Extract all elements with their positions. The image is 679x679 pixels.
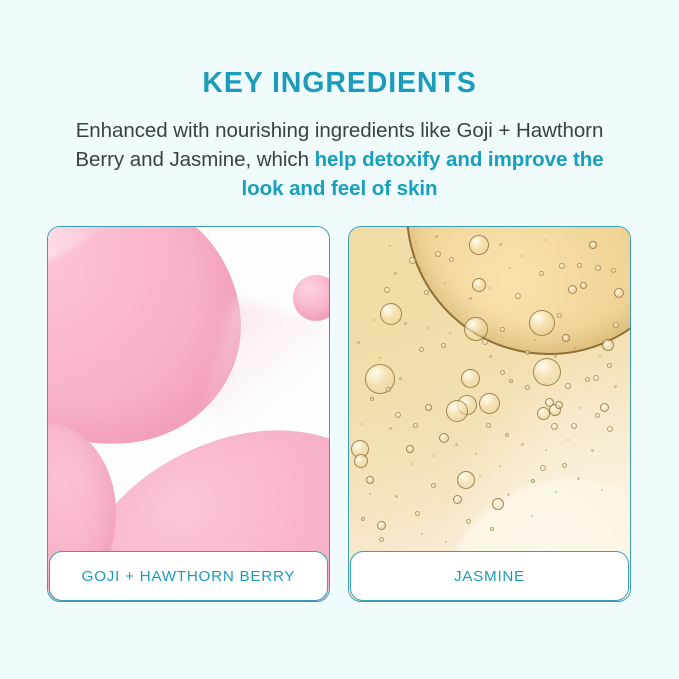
- oil-bubble: [435, 251, 441, 257]
- oil-speck: [545, 383, 547, 385]
- oil-bubble: [446, 400, 468, 422]
- oil-bubble: [354, 454, 368, 468]
- oil-bubble: [600, 403, 609, 412]
- oil-bubble: [380, 303, 402, 325]
- pink-fluid-artwork: [48, 227, 329, 601]
- golden-oil-artwork: [349, 227, 630, 601]
- oil-bubble: [472, 278, 486, 292]
- oil-speck: [404, 322, 407, 325]
- oil-bubble: [366, 476, 374, 484]
- oil-speck: [509, 347, 511, 349]
- oil-bubble: [531, 479, 535, 483]
- oil-speck: [475, 453, 477, 455]
- oil-bubble: [595, 265, 601, 271]
- goji-caption-label: GOJI + HAWTHORN BERRY: [82, 568, 296, 585]
- oil-bubble: [457, 471, 475, 489]
- oil-speck: [415, 241, 417, 243]
- oil-bubble: [595, 413, 600, 418]
- oil-speck: [591, 449, 594, 452]
- oil-speck: [449, 332, 451, 334]
- oil-bubble: [505, 433, 509, 437]
- oil-speck: [357, 341, 360, 344]
- oil-bubble: [562, 334, 570, 342]
- oil-speck: [489, 355, 492, 358]
- oil-bubble: [577, 263, 582, 268]
- oil-bubble: [453, 495, 462, 504]
- ingredient-card-grid: GOJI + HAWTHORN BERRY JASMINE: [47, 226, 632, 602]
- ingredient-card-goji[interactable]: GOJI + HAWTHORN BERRY: [47, 226, 330, 602]
- oil-speck: [554, 355, 557, 358]
- oil-bubble: [361, 517, 365, 521]
- oil-speck: [373, 319, 375, 321]
- oil-bubble: [568, 285, 577, 294]
- oil-bubble: [614, 288, 624, 298]
- oil-bubble: [425, 404, 432, 411]
- oil-bubble: [395, 412, 401, 418]
- oil-bubble: [559, 263, 565, 269]
- oil-bubble: [602, 339, 614, 351]
- page-title: KEY INGREDIENTS: [0, 66, 679, 100]
- oil-bubble: [461, 369, 480, 388]
- oil-bubble: [607, 363, 612, 368]
- oil-bubble: [562, 463, 567, 468]
- oil-bubble: [466, 519, 471, 524]
- subtitle-text: Enhanced with nourishing ingredients lik…: [70, 116, 609, 203]
- oil-speck: [545, 239, 547, 241]
- oil-bubble: [441, 343, 446, 348]
- oil-bubble: [557, 313, 562, 318]
- oil-bubble: [384, 287, 390, 293]
- oil-bubble: [525, 350, 530, 355]
- oil-speck: [479, 475, 481, 477]
- oil-bubble: [492, 498, 504, 510]
- oil-speck: [614, 385, 617, 388]
- oil-speck: [399, 377, 402, 380]
- oil-bubble: [525, 385, 530, 390]
- oil-speck: [574, 347, 576, 349]
- oil-bubble: [439, 433, 449, 443]
- oil-bubble: [386, 387, 391, 392]
- oil-speck: [567, 439, 569, 441]
- oil-speck: [499, 243, 502, 246]
- oil-speck: [601, 489, 603, 491]
- oil-bubble: [464, 317, 488, 341]
- jasmine-caption-label: JASMINE: [454, 568, 525, 585]
- oil-bubble: [406, 445, 414, 453]
- oil-speck: [455, 443, 458, 446]
- oil-speck: [577, 477, 580, 480]
- oil-bubble: [555, 401, 563, 409]
- oil-speck: [469, 297, 472, 300]
- oil-speck: [445, 541, 447, 543]
- oil-bubble: [413, 423, 418, 428]
- oil-bubble: [565, 383, 571, 389]
- oil-speck: [444, 282, 446, 284]
- oil-speck: [421, 533, 423, 535]
- oil-bubble: [551, 423, 558, 430]
- oil-bubble: [486, 423, 491, 428]
- oil-speck: [361, 423, 363, 425]
- oil-speck: [545, 449, 547, 451]
- oil-bubble: [379, 537, 384, 542]
- oil-speck: [521, 255, 523, 257]
- oil-bubble: [490, 527, 494, 531]
- oil-bubble: [580, 282, 587, 289]
- oil-bubble: [529, 310, 555, 336]
- oil-bubble: [431, 483, 436, 488]
- ingredient-card-jasmine[interactable]: JASMINE: [348, 226, 631, 602]
- oil-bubble: [571, 423, 577, 429]
- oil-bubble: [377, 521, 386, 530]
- oil-bubble: [607, 426, 613, 432]
- oil-bubble: [545, 398, 554, 407]
- oil-bubble: [611, 268, 616, 273]
- oil-speck: [389, 245, 391, 247]
- oil-speck: [599, 355, 601, 357]
- oil-bubble: [409, 257, 416, 264]
- oil-speck: [489, 287, 491, 289]
- oil-bubble: [509, 379, 513, 383]
- oil-bubble: [415, 511, 420, 516]
- oil-speck: [389, 427, 392, 430]
- oil-speck: [531, 515, 533, 517]
- oil-bubble: [424, 290, 429, 295]
- oil-bubble: [419, 347, 424, 352]
- oil-bubble: [449, 257, 454, 262]
- oil-bubble: [482, 339, 488, 345]
- oil-bubble: [540, 465, 546, 471]
- oil-speck: [419, 267, 421, 269]
- oil-bubble: [589, 241, 597, 249]
- oil-bubble: [500, 327, 505, 332]
- oil-speck: [411, 463, 413, 465]
- oil-speck: [379, 357, 381, 359]
- oil-speck: [433, 455, 435, 457]
- ingredients-panel: KEY INGREDIENTS Enhanced with nourishing…: [0, 0, 679, 679]
- oil-bubble: [533, 358, 561, 386]
- oil-bubble: [539, 271, 544, 276]
- oil-speck: [534, 339, 536, 341]
- oil-bubble: [515, 293, 521, 299]
- goji-image: [48, 227, 329, 601]
- oil-bubble: [585, 377, 590, 382]
- oil-speck: [499, 465, 501, 467]
- oil-bubble: [500, 370, 505, 375]
- oil-bubble: [370, 397, 374, 401]
- oil-speck: [521, 443, 524, 446]
- oil-speck: [369, 493, 371, 495]
- oil-speck: [435, 235, 438, 238]
- oil-speck: [395, 495, 398, 498]
- jasmine-image: [349, 227, 630, 601]
- pink-blob-small-dot: [293, 275, 329, 321]
- oil-speck: [394, 272, 397, 275]
- jasmine-caption-box: JASMINE: [350, 551, 629, 601]
- oil-bubble: [593, 375, 599, 381]
- oil-speck: [579, 407, 581, 409]
- oil-speck: [555, 491, 557, 493]
- oil-speck: [427, 327, 429, 329]
- goji-caption-box: GOJI + HAWTHORN BERRY: [49, 551, 328, 601]
- oil-speck: [509, 267, 511, 269]
- oil-speck: [439, 367, 441, 369]
- oil-bubble: [469, 235, 489, 255]
- oil-bubble: [613, 322, 619, 328]
- oil-bubble: [479, 393, 500, 414]
- oil-speck: [507, 493, 510, 496]
